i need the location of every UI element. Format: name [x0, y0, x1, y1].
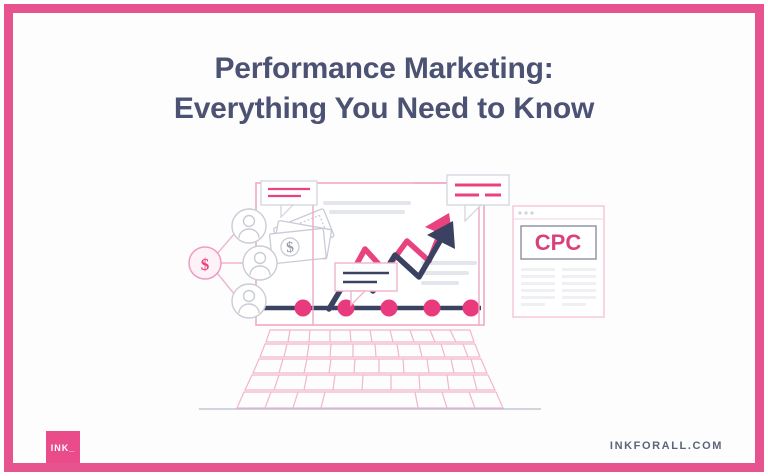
laptop-keyboard: [199, 330, 541, 409]
user-node: [232, 284, 266, 318]
ink-logo[interactable]: INK_: [46, 431, 80, 463]
site-url: INKFORALL.COM: [610, 440, 723, 452]
browser-dot: [524, 211, 527, 214]
performance-marketing-laptop-illustration: $: [13, 143, 755, 423]
page-title-line-1: Performance Marketing:: [13, 49, 755, 89]
baseline-dot: [424, 300, 441, 317]
baseline-dot: [463, 300, 480, 317]
user-node: [243, 246, 277, 280]
page-title: Performance Marketing: Everything You Ne…: [13, 49, 755, 129]
browser-dot: [530, 211, 533, 214]
poster-canvas: Performance Marketing: Everything You Ne…: [0, 0, 768, 476]
poster-inner-stage: Performance Marketing: Everything You Ne…: [13, 13, 755, 463]
svg-text:$: $: [201, 255, 210, 274]
cpc-browser-card: CPC: [513, 206, 604, 317]
browser-dot: [518, 211, 521, 214]
cpc-heading: CPC: [535, 230, 582, 255]
user-node: [232, 209, 266, 243]
page-title-line-2: Everything You Need to Know: [13, 89, 755, 129]
dollar-node: $: [189, 247, 221, 279]
baseline-dot: [381, 300, 398, 317]
user-network-diagram: $: [189, 209, 277, 318]
baseline-dot: [295, 300, 312, 317]
ink-logo-label: INK_: [51, 443, 76, 453]
